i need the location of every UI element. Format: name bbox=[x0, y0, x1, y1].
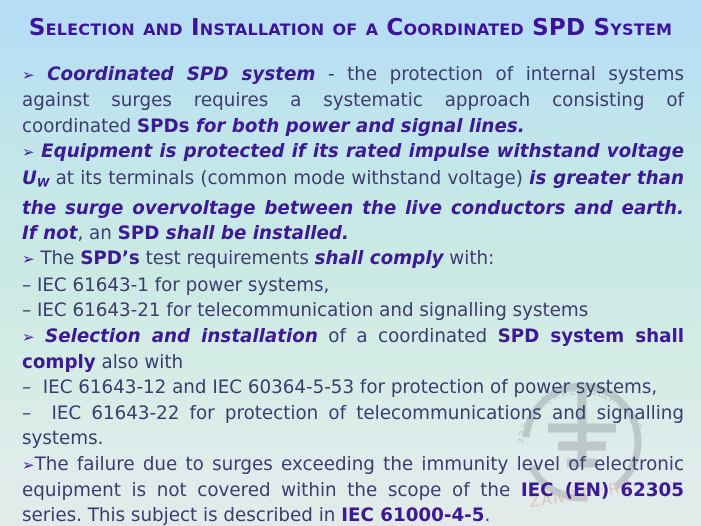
p6-emphasis-1: Selection and installation bbox=[45, 326, 318, 347]
slide-body: ➢ Coordinated SPD system - the protectio… bbox=[22, 62, 684, 526]
p5-text: IEC 61643-21 for telecommunication and s… bbox=[37, 300, 588, 321]
p1-lead: Coordinated SPD system bbox=[47, 64, 315, 85]
p9-bold-iec-61000: IEC 61000-4-5 bbox=[341, 505, 484, 526]
p3-tail: with: bbox=[444, 248, 495, 269]
bullet-arrow-icon: ➢ bbox=[22, 456, 35, 474]
p9-tail: . bbox=[484, 505, 490, 526]
title-segment-2: Coordinated bbox=[386, 15, 532, 41]
p6-mid: of a coordinated bbox=[318, 326, 498, 347]
dash-icon: – bbox=[22, 300, 31, 321]
p2-mid1: at its terminals (common mode withstand … bbox=[49, 168, 529, 189]
p3-bold-spds: SPD’s bbox=[80, 248, 140, 269]
paragraph-test-requirements: ➢ The SPD’s test requirements shall comp… bbox=[22, 246, 684, 272]
p3-mid: test requirements bbox=[140, 248, 315, 269]
p1-bold-spds: SPDs bbox=[137, 116, 190, 137]
p2-tail: shall be installed. bbox=[159, 223, 349, 244]
list-item-iec-61643-22: – IEC 61643-22 for protection of telecom… bbox=[22, 401, 684, 452]
dash-icon: – bbox=[22, 403, 31, 424]
p3-pre: The bbox=[40, 248, 80, 269]
bullet-arrow-icon: ➢ bbox=[22, 250, 35, 268]
title-segment-spd: SPD bbox=[532, 15, 585, 41]
paragraph-failure-due-to-surges: ➢The failure due to surges exceeding the… bbox=[22, 452, 684, 526]
p8-text: IEC 61643-22 for protection of telecommu… bbox=[22, 403, 684, 449]
bullet-arrow-icon: ➢ bbox=[22, 328, 35, 346]
p2-mid2: , an bbox=[77, 223, 117, 244]
p9-mid: series. This subject is described in bbox=[22, 505, 341, 526]
p2-emphasis-spd: SPD bbox=[118, 223, 160, 244]
paragraph-equipment-protected: ➢ Equipment is protected if its rated im… bbox=[22, 139, 684, 246]
p9-bold-iec-62305: IEC (EN) 62305 bbox=[521, 480, 684, 501]
p3-emphasis-shall-comply: shall comply bbox=[315, 248, 444, 269]
list-item-iec-61643-21: – IEC 61643-21 for telecommunication and… bbox=[22, 298, 684, 323]
bullet-arrow-icon: ➢ bbox=[22, 143, 35, 161]
list-item-iec-61643-12: – IEC 61643-12 and IEC 60364-5-53 for pr… bbox=[22, 375, 684, 400]
slide-canvas: заземление защищено ZANDZ . RU Selection… bbox=[0, 0, 701, 526]
p6-tail: also with bbox=[96, 352, 183, 373]
list-item-iec-61643-1: – IEC 61643-1 for power systems, bbox=[22, 273, 684, 298]
p4-text: IEC 61643-1 for power systems, bbox=[37, 275, 329, 296]
title-segment-4: System bbox=[585, 15, 672, 41]
paragraph-selection-installation: ➢ Selection and installation of a coordi… bbox=[22, 324, 684, 376]
p2-subscript-w: W bbox=[37, 175, 50, 189]
title-segment-1: Selection and Installation of a bbox=[29, 15, 387, 41]
paragraph-coordinated-spd-system: ➢ Coordinated SPD system - the protectio… bbox=[22, 62, 684, 139]
p7-text: IEC 61643-12 and IEC 60364-5-53 for prot… bbox=[43, 377, 657, 398]
p1-tail: for both power and signal lines. bbox=[190, 116, 525, 137]
page-title: Selection and Installation of a Coordina… bbox=[0, 14, 701, 42]
dash-icon: – bbox=[22, 275, 31, 296]
dash-icon: – bbox=[22, 377, 31, 398]
bullet-arrow-icon: ➢ bbox=[22, 66, 35, 84]
